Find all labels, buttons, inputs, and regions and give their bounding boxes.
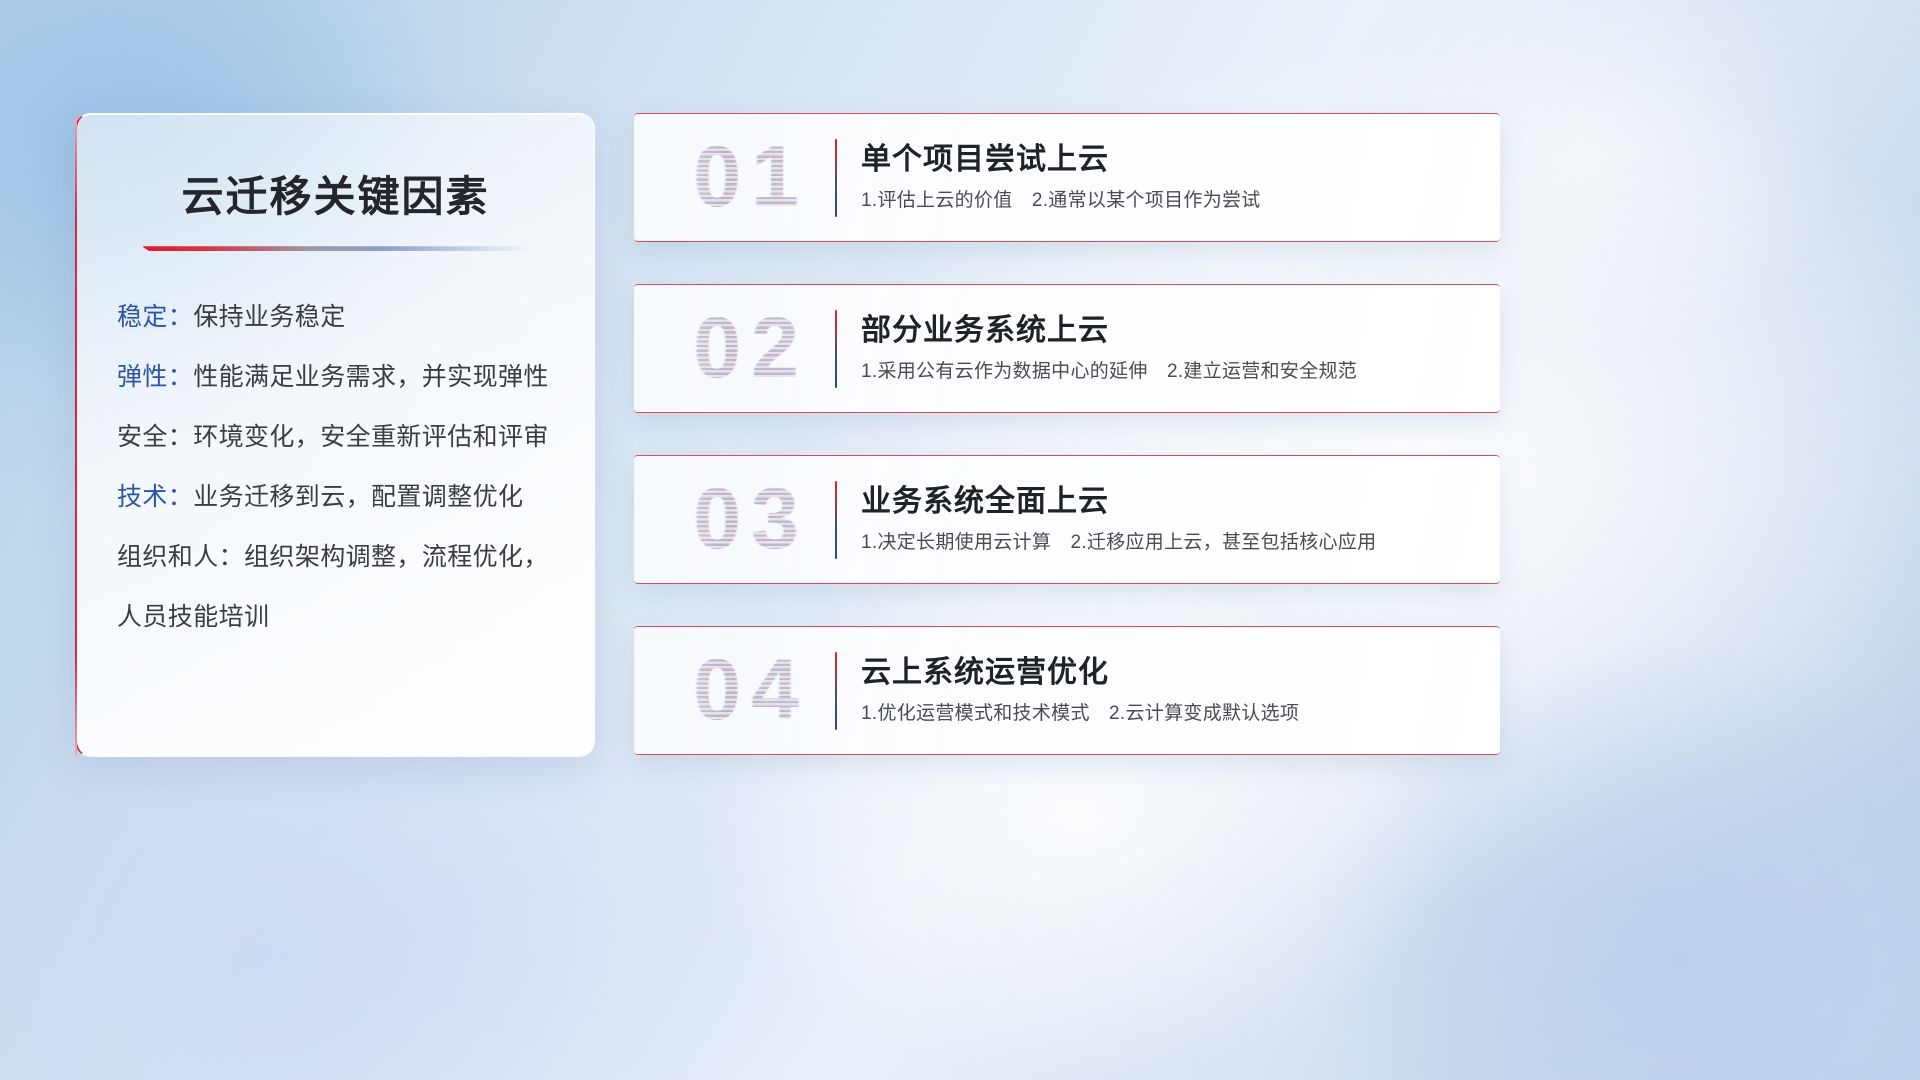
factor-row: 组织和人：组织架构调整，流程优化， bbox=[117, 545, 554, 570]
factor-key: 安全： bbox=[117, 423, 193, 451]
step-description: 1.评估上云的价值 2.通常以某个项目作为尝试 bbox=[861, 190, 1261, 213]
factor-row: 人员技能培训 bbox=[117, 605, 554, 630]
slide-canvas: 云迁移关键因素 稳定：保持业务稳定 弹性：性能满足业务需求，并实现弹性 安全：环… bbox=[0, 0, 1920, 1080]
step-number-glyph: 04 bbox=[656, 639, 846, 743]
factor-value: 人员技能培训 bbox=[117, 603, 269, 631]
step-description: 1.采用公有云作为数据中心的延伸 2.建立运营和安全规范 bbox=[861, 361, 1357, 384]
step-description: 1.优化运营模式和技术模式 2.云计算变成默认选项 bbox=[861, 703, 1299, 726]
factor-key: 技术： bbox=[117, 483, 193, 511]
step-title: 部分业务系统上云 bbox=[861, 314, 1357, 347]
step-number-glyph: 02 bbox=[656, 297, 846, 401]
factor-value: 组织架构调整，流程优化， bbox=[244, 543, 549, 571]
step-card-01[interactable]: 01 单个项目尝试上云 1.评估上云的价值 2.通常以某个项目作为尝试 bbox=[634, 113, 1500, 242]
title-underline-rule bbox=[142, 246, 530, 251]
factor-key: 稳定： bbox=[117, 303, 193, 331]
step-divider bbox=[835, 139, 837, 217]
factor-row: 稳定：保持业务稳定 bbox=[117, 305, 554, 330]
step-body: 业务系统全面上云 1.决定长期使用云计算 2.迁移应用上云，甚至包括核心应用 bbox=[861, 485, 1376, 555]
step-card-02[interactable]: 02 部分业务系统上云 1.采用公有云作为数据中心的延伸 2.建立运营和安全规范 bbox=[634, 284, 1500, 413]
step-divider bbox=[835, 652, 837, 730]
factor-key: 组织和人： bbox=[117, 543, 244, 571]
step-body: 云上系统运营优化 1.优化运营模式和技术模式 2.云计算变成默认选项 bbox=[861, 656, 1299, 726]
step-body: 单个项目尝试上云 1.评估上云的价值 2.通常以某个项目作为尝试 bbox=[861, 143, 1261, 213]
factor-value: 保持业务稳定 bbox=[193, 303, 345, 331]
factor-key: 弹性： bbox=[117, 363, 193, 391]
step-description: 1.决定长期使用云计算 2.迁移应用上云，甚至包括核心应用 bbox=[861, 532, 1376, 555]
factor-row: 弹性：性能满足业务需求，并实现弹性 bbox=[117, 365, 554, 390]
factor-row: 安全：环境变化，安全重新评估和评审 bbox=[117, 425, 554, 450]
key-factors-panel: 云迁移关键因素 稳定：保持业务稳定 弹性：性能满足业务需求，并实现弹性 安全：环… bbox=[75, 113, 595, 757]
step-divider bbox=[835, 481, 837, 559]
step-card-04[interactable]: 04 云上系统运营优化 1.优化运营模式和技术模式 2.云计算变成默认选项 bbox=[634, 626, 1500, 755]
factor-value: 业务迁移到云，配置调整优化 bbox=[193, 483, 523, 511]
step-number-glyph: 01 bbox=[656, 126, 846, 230]
step-divider bbox=[835, 310, 837, 388]
factor-row: 技术：业务迁移到云，配置调整优化 bbox=[117, 485, 554, 510]
factor-list: 稳定：保持业务稳定 弹性：性能满足业务需求，并实现弹性 安全：环境变化，安全重新… bbox=[117, 305, 554, 630]
factor-value: 性能满足业务需求，并实现弹性 bbox=[193, 363, 549, 391]
factor-value: 环境变化，安全重新评估和评审 bbox=[193, 423, 549, 451]
step-title: 单个项目尝试上云 bbox=[861, 143, 1261, 176]
step-number-glyph: 03 bbox=[656, 468, 846, 572]
step-body: 部分业务系统上云 1.采用公有云作为数据中心的延伸 2.建立运营和安全规范 bbox=[861, 314, 1357, 384]
step-title: 云上系统运营优化 bbox=[861, 656, 1299, 689]
step-title: 业务系统全面上云 bbox=[861, 485, 1376, 518]
step-card-03[interactable]: 03 业务系统全面上云 1.决定长期使用云计算 2.迁移应用上云，甚至包括核心应… bbox=[634, 455, 1500, 584]
panel-title: 云迁移关键因素 bbox=[117, 174, 554, 220]
